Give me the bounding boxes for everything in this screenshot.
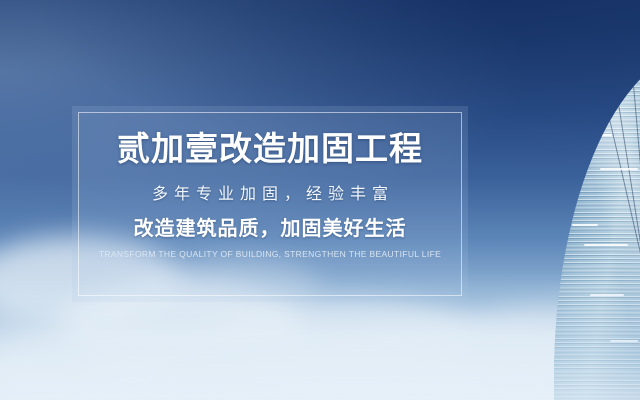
skyscraper xyxy=(544,48,640,400)
banner-subline: 多年专业加固，经验丰富 xyxy=(146,187,394,203)
skyscraper-body xyxy=(554,48,640,400)
skyscraper-haze-overlay xyxy=(554,48,640,400)
banner-english-tagline: TRANSFORM THE QUALITY OF BUILDING, STREN… xyxy=(99,250,441,259)
banner-headline: 贰加壹改造加固工程 xyxy=(117,132,423,165)
banner-text-stack: 贰加壹改造加固工程 多年专业加固，经验丰富 改造建筑品质，加固美好生活 TRAN… xyxy=(72,106,468,302)
banner-tagline: 改造建筑品质，加固美好生活 xyxy=(134,219,407,239)
hero-banner: 贰加壹改造加固工程 多年专业加固，经验丰富 改造建筑品质，加固美好生活 TRAN… xyxy=(0,0,640,400)
